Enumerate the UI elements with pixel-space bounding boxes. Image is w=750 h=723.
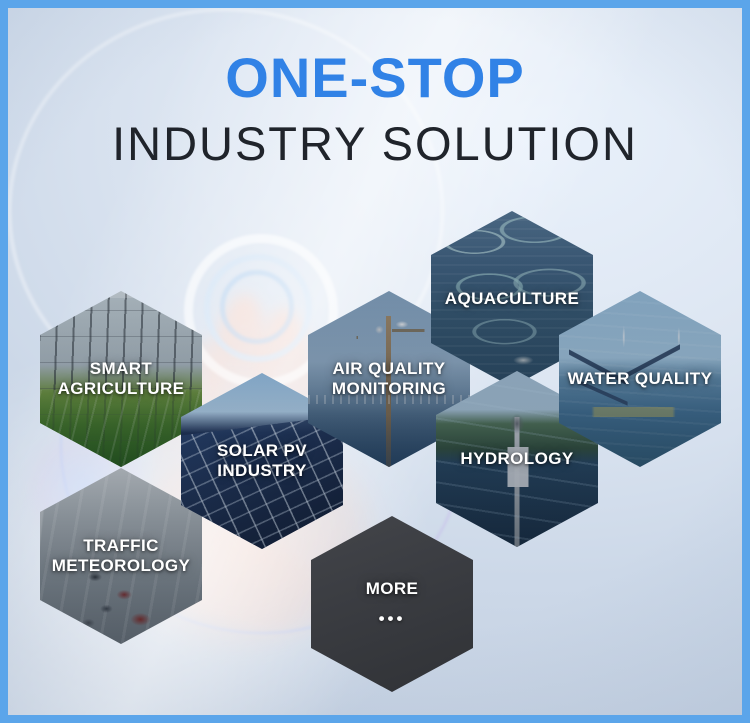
hex-label-line1: SMART [84,359,158,379]
hex-tile-more[interactable]: MORE ••• [311,516,473,692]
hex-label-line2: INDUSTRY [211,461,312,481]
hexagon-grid: SMART AGRICULTURE TRAFFIC METEOROLOGY SO… [8,8,742,715]
hex-label-line1: WATER QUALITY [562,369,719,389]
more-label-stack: MORE ••• [360,579,425,629]
traffic-meteorology-label-stack: TRAFFIC METEOROLOGY [46,536,197,576]
hex-label-line2: MONITORING [326,379,452,399]
water-quality-label-stack: WATER QUALITY [562,369,719,389]
smart-agriculture-label-stack: SMART AGRICULTURE [52,359,191,399]
hex-label-line1: AIR QUALITY [326,359,451,379]
air-quality-monitoring-label-stack: AIR QUALITY MONITORING [326,359,452,399]
hydrology-label-stack: HYDROLOGY [454,449,579,469]
hex-label-line1: MORE [360,579,425,599]
hex-label-line2: METEOROLOGY [46,556,197,576]
hex-label-line1: HYDROLOGY [454,449,579,469]
banner-root: ONE-STOP INDUSTRY SOLUTION SMART AGRICUL… [0,0,750,723]
hex-label-line1: TRAFFIC [77,536,165,556]
solar-pv-industry-label-stack: SOLAR PV INDUSTRY [211,441,313,481]
hex-tile-smart-agriculture[interactable]: SMART AGRICULTURE [40,291,202,467]
hex-label-line2: AGRICULTURE [52,379,191,399]
hex-label-line1: AQUACULTURE [439,289,585,309]
hex-label-line1: SOLAR PV [211,441,313,461]
more-ellipsis-icon: ••• [379,609,406,629]
hex-tile-traffic-meteorology[interactable]: TRAFFIC METEOROLOGY [40,468,202,644]
aquaculture-label-stack: AQUACULTURE [439,289,585,309]
